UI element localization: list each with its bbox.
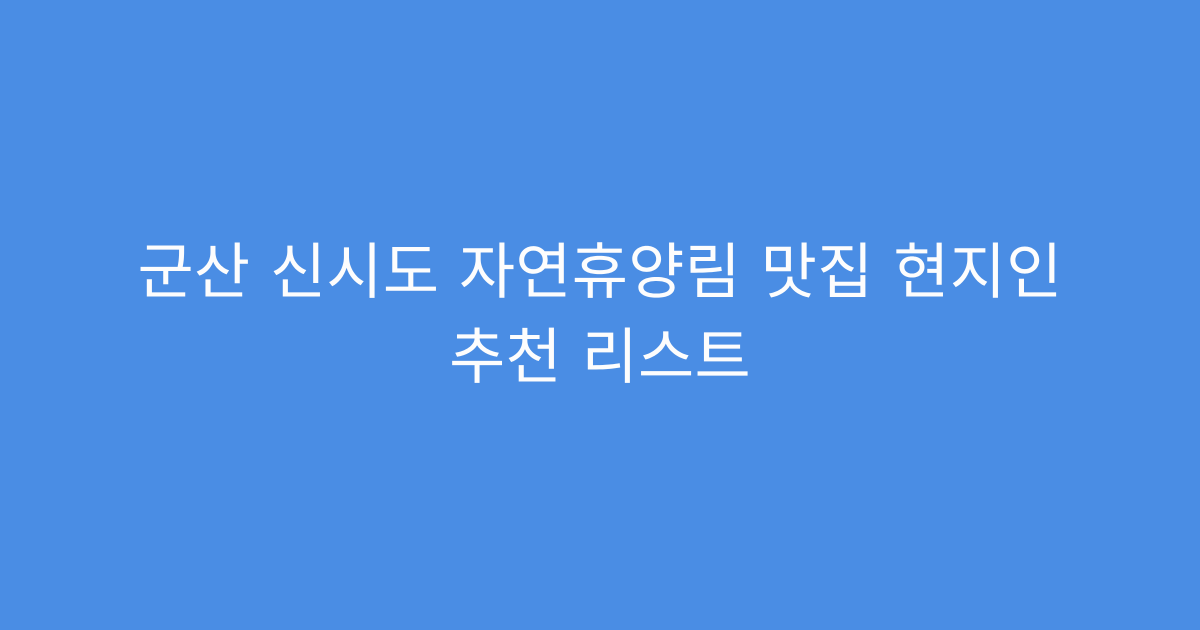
og-share-card: 군산 신시도 자연휴양림 맛집 현지인 추천 리스트 xyxy=(0,0,1200,630)
page-title: 군산 신시도 자연휴양림 맛집 현지인 추천 리스트 xyxy=(80,230,1120,400)
card-content-wrapper: 군산 신시도 자연휴양림 맛집 현지인 추천 리스트 xyxy=(80,230,1120,400)
